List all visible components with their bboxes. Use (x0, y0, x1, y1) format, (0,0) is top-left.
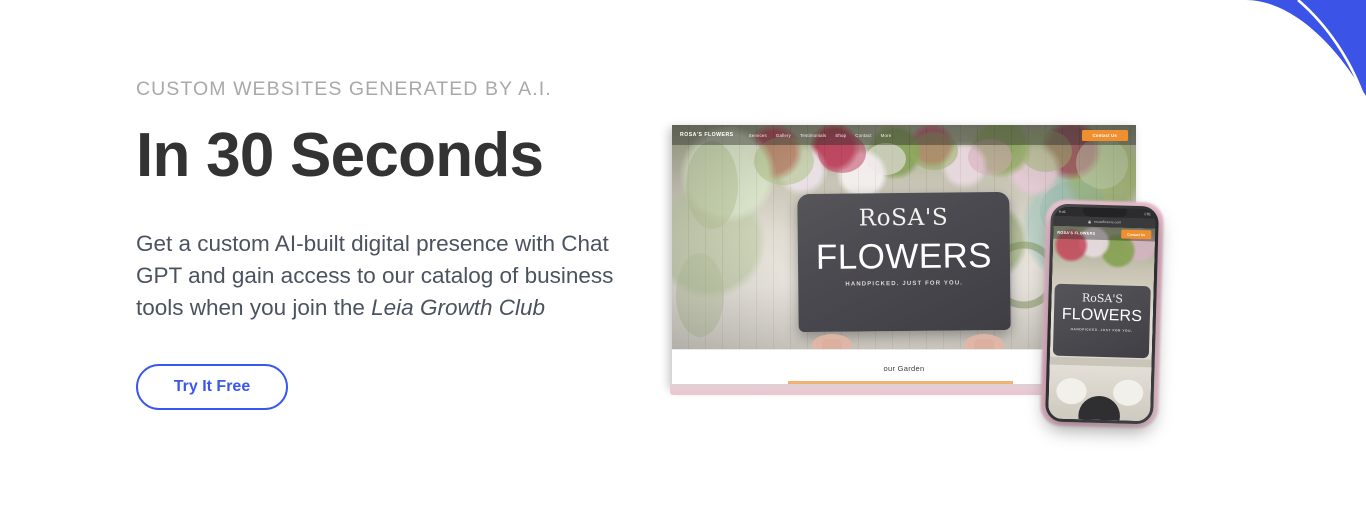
hero-subcopy-emphasis: Leia Growth Club (371, 295, 545, 320)
phone-status-time: 9:41 (1059, 209, 1066, 213)
blue-swoosh-decoration (1186, 0, 1366, 120)
phone-site-logo[interactable]: ROSA'S FLOWERS (1057, 230, 1095, 235)
site-nav-item-4[interactable]: Contact (855, 133, 871, 138)
phone-lower-photo (1048, 357, 1152, 422)
site-logo[interactable]: ROSA'S FLOWERS (680, 132, 734, 138)
phone-chalkboard-sign: RoSA'S FLOWERS HANDPICKED. JUST FOR YOU. (1053, 284, 1151, 359)
phone-url-text: rosasflowers.com (1094, 220, 1122, 225)
phone-frame: 9:41 LTE rosasflowers.com (1045, 204, 1159, 425)
hero-subcopy: Get a custom AI-built digital presence w… (136, 228, 636, 324)
phone-lower-figures (1048, 357, 1152, 422)
device-mockups: ROSA'S FLOWERS Services Gallery Testimon… (668, 120, 1168, 440)
chalkboard-main-text: FLOWERS (816, 238, 992, 275)
page-title: In 30 Seconds (136, 125, 666, 187)
chalkboard-sign: RoSA'S FLOWERS HANDPICKED. JUST FOR YOU. (797, 192, 1010, 332)
phone-contact-button[interactable]: Contact Us (1121, 230, 1151, 240)
phone-screen: 9:41 LTE rosasflowers.com (1048, 207, 1156, 422)
site-navbar: ROSA'S FLOWERS Services Gallery Testimon… (672, 125, 1136, 145)
phone-chalk-main: FLOWERS (1062, 307, 1143, 325)
hero-copy-column: CUSTOM WEBSITES GENERATED BY A.I. In 30 … (136, 78, 666, 410)
phone-status-signal: LTE (1144, 212, 1150, 216)
site-nav-links: Services Gallery Testimonials Shop Conta… (749, 133, 892, 138)
hero-eyebrow: CUSTOM WEBSITES GENERATED BY A.I. (136, 78, 666, 101)
phone-mockup: 9:41 LTE rosasflowers.com (1045, 204, 1159, 425)
site-nav-item-1[interactable]: Gallery (776, 133, 791, 138)
site-nav-item-0[interactable]: Services (749, 133, 767, 138)
phone-chalk-script: RoSA'S (1082, 292, 1123, 304)
site-nav-item-5[interactable]: More (881, 133, 892, 138)
phone-notch (1083, 207, 1127, 217)
site-nav-item-2[interactable]: Testimonials (800, 133, 826, 138)
chalkboard-tagline: HANDPICKED. JUST FOR YOU. (845, 280, 963, 287)
swoosh-svg (1186, 0, 1366, 120)
hero-section: CUSTOM WEBSITES GENERATED BY A.I. In 30 … (0, 0, 1366, 510)
site-contact-button[interactable]: Contact Us (1082, 130, 1129, 141)
site-nav-item-3[interactable]: Shop (835, 133, 846, 138)
lock-icon (1088, 220, 1092, 224)
phone-site-preview: ROSA'S FLOWERS Contact Us RoSA'S FLOWERS… (1048, 226, 1155, 422)
phone-chalk-tagline: HANDPICKED. JUST FOR YOU. (1071, 327, 1133, 333)
site-section-label: our Garden (884, 364, 925, 373)
chalkboard-script-text: RoSA'S (859, 207, 949, 231)
try-it-free-button[interactable]: Try It Free (136, 364, 288, 410)
